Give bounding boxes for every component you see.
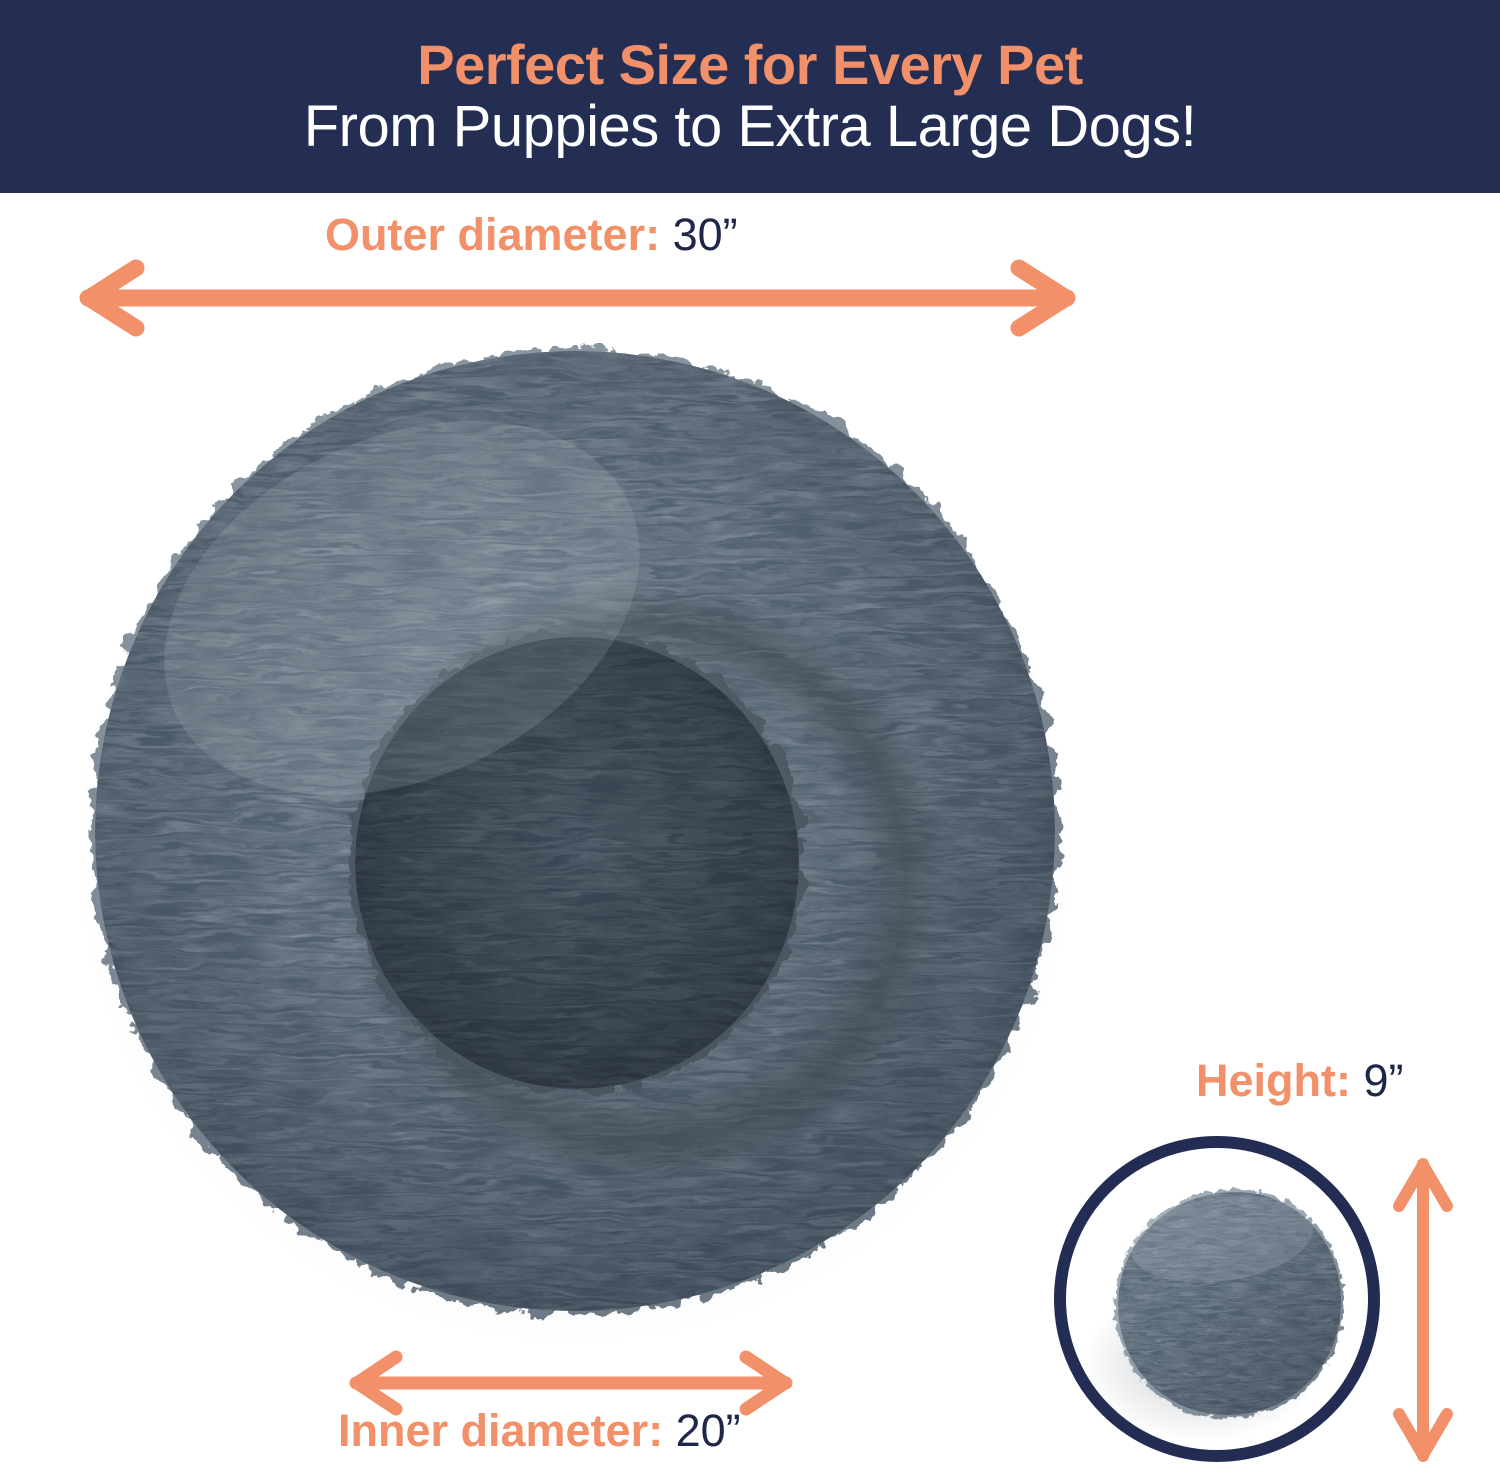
header-banner: Perfect Size for Every Pet From Puppies … xyxy=(0,0,1500,193)
dog-bed-side-view-figure xyxy=(1052,1134,1382,1464)
product-size-infographic: Perfect Size for Every Pet From Puppies … xyxy=(0,0,1500,1475)
page-subtitle: From Puppies to Extra Large Dogs! xyxy=(304,97,1197,156)
page-title: Perfect Size for Every Pet xyxy=(417,36,1083,93)
outer-diameter-value: 30” xyxy=(673,209,738,260)
inner-diameter-value: 20” xyxy=(676,1405,741,1456)
dog-bed-top-view-figure xyxy=(72,328,1078,1334)
inner-diameter-label: Inner diameter: xyxy=(338,1405,663,1456)
outer-diameter-label: Outer diameter: xyxy=(325,209,660,260)
height-arrow xyxy=(1392,1152,1454,1468)
outer-diameter-caption: Outer diameter: 30” xyxy=(325,212,738,257)
outer-diameter-arrow xyxy=(70,262,1085,334)
dog-bed-side-view-graphic xyxy=(1052,1134,1382,1464)
height-value: 9” xyxy=(1364,1055,1404,1106)
height-caption: Height: 9” xyxy=(1196,1058,1404,1103)
height-label: Height: xyxy=(1196,1055,1351,1106)
dog-bed-top-view-graphic xyxy=(72,328,1078,1334)
inner-diameter-caption: Inner diameter: 20” xyxy=(338,1408,741,1453)
